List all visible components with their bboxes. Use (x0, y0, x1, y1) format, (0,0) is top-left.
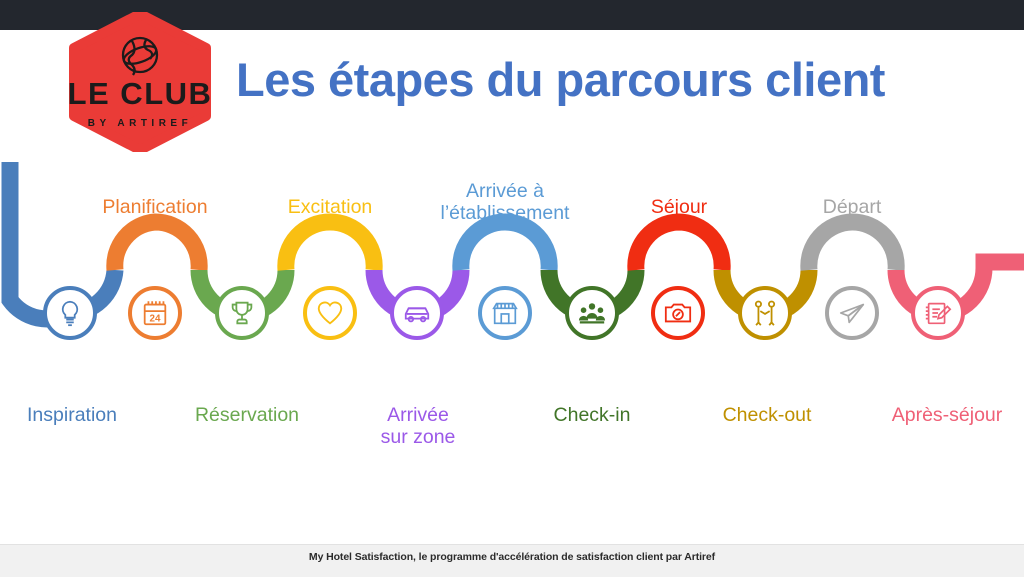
logo-wordmark: LE CLUB BY ARTIREF (68, 76, 213, 129)
handshake-icon (750, 298, 780, 328)
svg-text:24: 24 (150, 313, 161, 324)
calendar-24-icon: 24 (140, 298, 170, 328)
logo-tagline-text: BY ARTIREF (88, 118, 192, 129)
stage-node-2[interactable]: 24 (128, 286, 182, 340)
wave-seg-8 (636, 222, 722, 270)
stage-node-6[interactable] (478, 286, 532, 340)
stage-label-check-in: Check-in (524, 404, 660, 426)
stage-node-10[interactable] (825, 286, 879, 340)
stage-node-5[interactable] (390, 286, 444, 340)
slide-canvas: LE CLUB BY ARTIREF Les étapes du parcour… (0, 0, 1024, 576)
trophy-icon (227, 298, 257, 328)
heart-icon (315, 298, 345, 328)
storefront-icon (490, 298, 520, 328)
car-icon (402, 298, 432, 328)
stage-label-check-out: Check-out (697, 404, 837, 426)
footer-caption: My Hotel Satisfaction, le programme d'ac… (0, 551, 1024, 563)
camera-icon (663, 298, 693, 328)
stage-node-8[interactable] (651, 286, 705, 340)
stage-label-reservation: Réservation (167, 404, 327, 426)
logo-brand-text: LE CLUB (68, 76, 213, 111)
stage-node-9[interactable] (738, 286, 792, 340)
lightbulb-icon (55, 298, 85, 328)
stage-label-apres-sejour: Après-séjour (868, 404, 1024, 426)
stage-label-arrivee-sur-zone: Arrivée sur zone (357, 404, 479, 448)
stage-node-7[interactable] (565, 286, 619, 340)
wave-seg-10 (809, 222, 896, 270)
stage-node-1[interactable] (43, 286, 97, 340)
stage-label-depart: Départ (782, 196, 922, 218)
paper-plane-icon (837, 298, 867, 328)
review-notepad-icon (923, 298, 953, 328)
stage-node-3[interactable] (215, 286, 269, 340)
le-club-logo: LE CLUB BY ARTIREF (66, 12, 214, 152)
wave-seg-6 (461, 222, 549, 270)
reception-people-icon (577, 298, 607, 328)
wave-seg-4 (286, 222, 374, 270)
stage-label-planification: Planification (75, 196, 235, 218)
stage-node-11[interactable] (911, 286, 965, 340)
wave-seg-2 (115, 222, 199, 270)
stage-node-4[interactable] (303, 286, 357, 340)
stage-label-excitation: Excitation (255, 196, 405, 218)
stage-label-arrivee-etablissement: Arrivée à l’établissement (418, 180, 592, 224)
stage-label-inspiration: Inspiration (0, 404, 152, 426)
stage-label-sejour: Séjour (609, 196, 749, 218)
page-title: Les étapes du parcours client (236, 52, 996, 107)
